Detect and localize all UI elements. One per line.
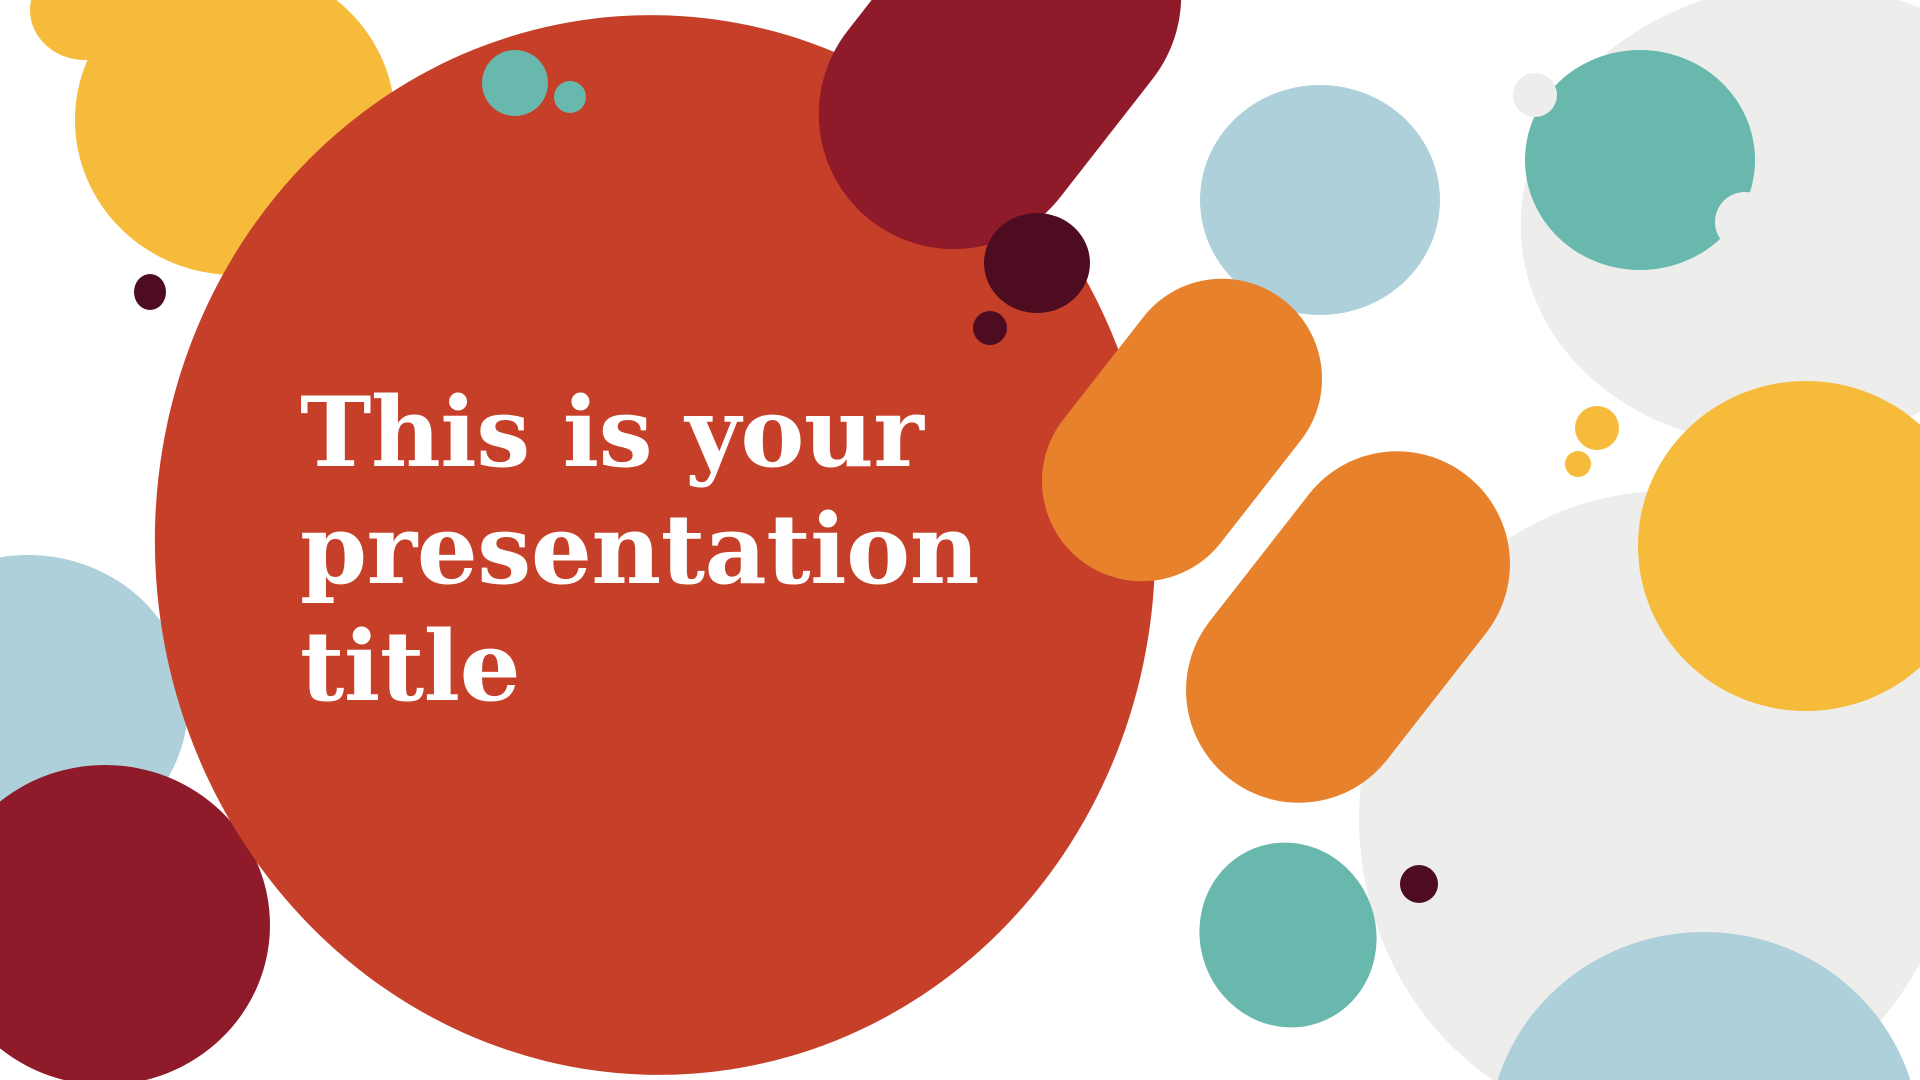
page-title: This is your presentation title bbox=[300, 374, 1200, 725]
gray-dot-upper-right-a bbox=[1513, 73, 1557, 117]
maroon-dot-left bbox=[134, 274, 166, 310]
gray-dot-upper-right-b bbox=[1715, 192, 1775, 252]
maroon-circle-right bbox=[984, 213, 1090, 313]
teal-dot-top-a bbox=[482, 50, 548, 116]
presentation-slide: This is your presentation title bbox=[0, 0, 1920, 1080]
maroon-dot-bottom bbox=[1400, 865, 1438, 903]
maroon-dot-right-small bbox=[973, 311, 1007, 345]
teal-dot-top-b bbox=[554, 81, 586, 113]
yellow-dot-right-a bbox=[1575, 406, 1619, 450]
yellow-dot-right-b bbox=[1565, 451, 1591, 477]
